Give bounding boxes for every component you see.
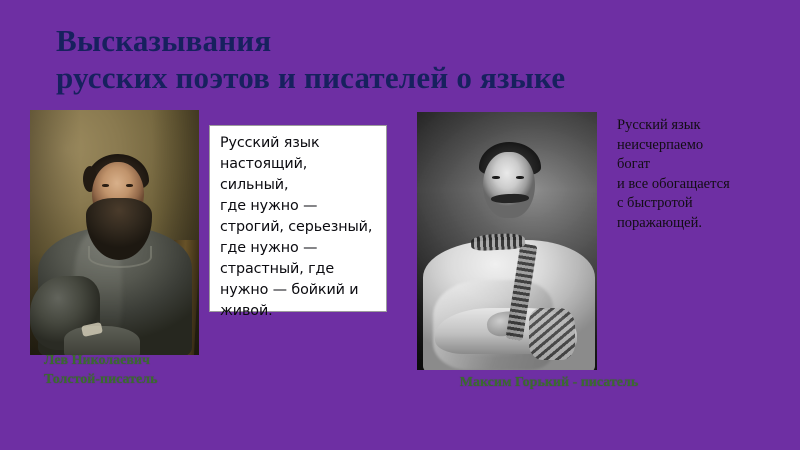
gorky-face-shape xyxy=(483,152,535,218)
tolstoy-quote-text: Русский язык настоящий, сильный, где нуж… xyxy=(220,133,380,322)
page-title: Высказывания русских поэтов и писателей … xyxy=(56,22,756,96)
presentation-slide: Высказывания русских поэтов и писателей … xyxy=(0,0,800,450)
tolstoy-collar-shape xyxy=(88,246,152,268)
gorky-quote-text: Русский язык неисчерпаемо богат и все об… xyxy=(617,116,797,233)
tolstoy-caption: Лев Николаевич Толстой-писатель xyxy=(44,351,234,389)
gorky-right-eye-shape xyxy=(516,176,524,179)
tolstoy-quote-box: Русский язык настоящий, сильный, где нуж… xyxy=(209,125,387,312)
gorky-portrait-image xyxy=(417,112,597,370)
tolstoy-portrait-image xyxy=(30,110,199,355)
gorky-left-eye-shape xyxy=(492,176,500,179)
gorky-embroidered-cuff-shape xyxy=(529,308,575,360)
tolstoy-right-eye-shape xyxy=(126,184,133,187)
gorky-caption: Максим Горький - писатель xyxy=(424,373,674,392)
tolstoy-left-eye-shape xyxy=(102,184,109,187)
